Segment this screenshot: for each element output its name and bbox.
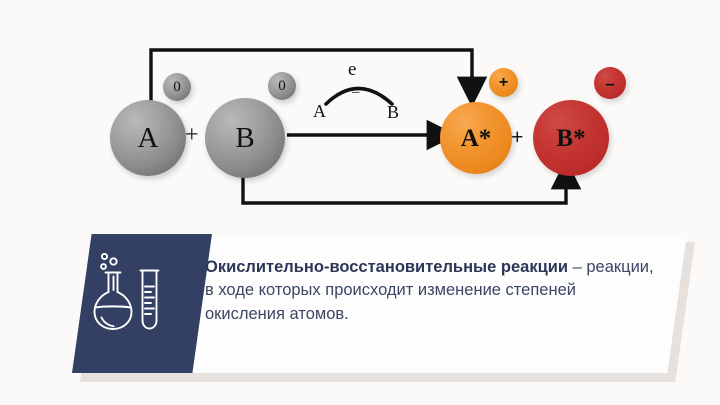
electron-label: e (348, 59, 356, 81)
electron-target-label: B (387, 102, 399, 123)
definition-dash: – (568, 258, 586, 276)
atom-b-sphere: B (205, 98, 285, 178)
oxidation-path-arrow (151, 50, 472, 101)
reaction-arrows (0, 0, 720, 230)
reactant-plus-operator: + (185, 122, 199, 149)
electron-source-label: A (313, 101, 326, 122)
ion-a-star-charge-badge: + (489, 68, 518, 97)
electron-charge-label: – (352, 84, 360, 101)
ion-b-star-charge-badge: – (594, 67, 626, 99)
atom-a-sphere: A (110, 100, 186, 176)
product-plus-operator: + (511, 124, 524, 150)
slide-canvas: A 0 + B 0 e – A B A* + + B* – (0, 0, 720, 405)
flask-test-tube-icon (92, 250, 166, 332)
ion-b-star-sphere: B* (533, 100, 609, 176)
ion-a-star-sphere: A* (440, 102, 512, 174)
atom-a-charge-badge: 0 (163, 73, 191, 101)
reduction-path-arrow (243, 172, 566, 203)
definition-text: Окислительно-восстановительные реакции –… (205, 256, 660, 326)
atom-b-charge-badge: 0 (268, 72, 296, 100)
definition-term: Окислительно-восстановительные реакции (205, 258, 568, 276)
